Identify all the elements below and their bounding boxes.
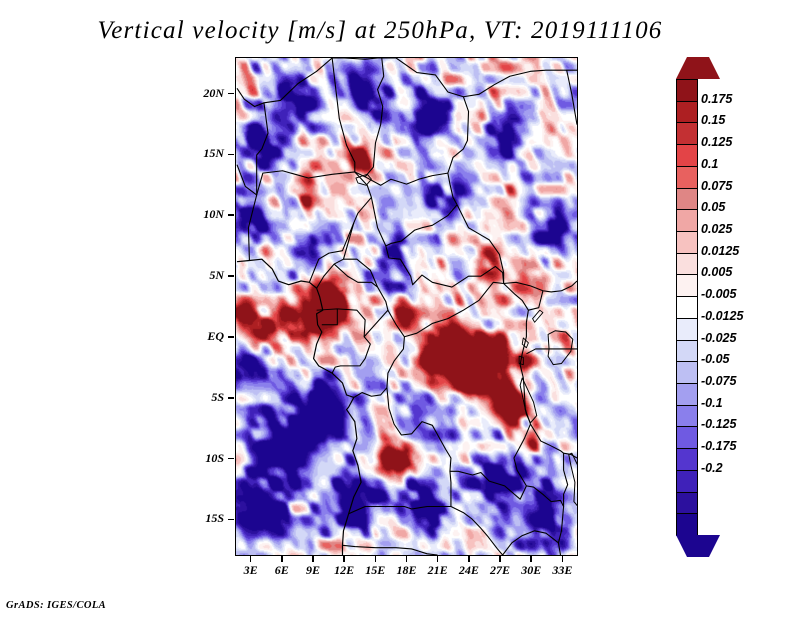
- colorbar-tick-label: -0.005: [701, 287, 736, 301]
- colorbar-segment: [676, 383, 698, 406]
- colorbar-tick-label: 0.075: [701, 179, 732, 193]
- y-axis-tick: [228, 275, 234, 277]
- colorbar-tick-label: -0.125: [701, 417, 736, 431]
- border-path: [332, 309, 370, 373]
- border-path: [237, 259, 361, 555]
- colorbar-tick-label: 0.005: [701, 265, 732, 279]
- colorbar-max-arrow: [676, 57, 720, 79]
- colorbar-tick-label: 0.025: [701, 222, 732, 236]
- border-path: [387, 283, 531, 499]
- y-axis-tick: [228, 154, 234, 156]
- colorbar-segment: [676, 361, 698, 384]
- colorbar-tick-label: 0.125: [701, 135, 732, 149]
- border-path: [342, 545, 437, 555]
- colorbar: [676, 57, 698, 557]
- y-axis-label: 10S: [164, 451, 224, 466]
- y-axis-label: 20N: [164, 86, 224, 101]
- footer-credit: GrADS: IGES/COLA: [6, 600, 106, 611]
- colorbar-segment: [676, 101, 698, 124]
- colorbar-segment: [676, 166, 698, 189]
- x-axis-tick: [562, 556, 564, 562]
- border-path: [530, 424, 577, 458]
- colorbar-segment: [676, 405, 698, 428]
- y-axis-label: 5S: [164, 390, 224, 405]
- colorbar-tick-label: 0.1: [701, 157, 718, 171]
- border-path: [528, 291, 543, 310]
- border-path: [526, 486, 563, 555]
- colorbar-tick-label: -0.0125: [701, 309, 743, 323]
- colorbar-tick-label: -0.2: [701, 461, 723, 475]
- colorbar-segment: [676, 296, 698, 319]
- x-axis-tick: [530, 556, 532, 562]
- y-axis-tick: [228, 93, 234, 95]
- colorbar-tick-label: -0.1: [701, 396, 723, 410]
- country-borders-overlay: [236, 58, 577, 555]
- border-path: [334, 264, 388, 310]
- x-axis-tick: [312, 556, 314, 562]
- border-path: [371, 197, 457, 245]
- border-path: [404, 282, 503, 336]
- x-axis-tick: [343, 556, 345, 562]
- border-path: [354, 310, 405, 397]
- border-path: [463, 70, 577, 97]
- border-path: [567, 70, 577, 124]
- border-path: [365, 173, 448, 185]
- x-axis-label: 33E: [542, 563, 582, 578]
- y-axis-label: 5N: [164, 268, 224, 283]
- colorbar-tick-label: 0.0125: [701, 244, 739, 258]
- border-path: [503, 531, 559, 555]
- colorbar-segment: [676, 253, 698, 276]
- border-path: [317, 223, 354, 288]
- border-path: [520, 378, 537, 423]
- y-axis-tick: [228, 214, 234, 216]
- x-axis-tick: [281, 556, 283, 562]
- border-path: [504, 281, 577, 292]
- colorbar-segment: [676, 492, 698, 515]
- colorbar-segment: [676, 448, 698, 471]
- border-path: [569, 453, 577, 506]
- y-axis-label: 15N: [164, 146, 224, 161]
- border-path: [317, 309, 338, 325]
- border-path: [451, 506, 503, 555]
- colorbar-tick-label: -0.05: [701, 352, 730, 366]
- colorbar-tick-label: 0.05: [701, 200, 725, 214]
- border-path: [257, 103, 268, 195]
- border-path: [332, 58, 355, 172]
- border-path: [382, 58, 469, 205]
- colorbar-segment: [676, 231, 698, 254]
- colorbar-segment: [676, 513, 698, 536]
- page-title: Vertical velocity [m/s] at 250hPa, VT: 2…: [0, 17, 760, 45]
- border-path: [548, 331, 573, 365]
- x-axis-tick: [250, 556, 252, 562]
- border-path: [237, 165, 257, 195]
- y-axis-label: EQ: [164, 329, 224, 344]
- colorbar-segment: [676, 122, 698, 145]
- y-axis-label: 15S: [164, 511, 224, 526]
- colorbar-tick-label: 0.175: [701, 92, 732, 106]
- border-path: [355, 58, 384, 177]
- map-plot-area: [235, 57, 578, 556]
- x-axis-tick: [437, 556, 439, 562]
- colorbar-min-arrow: [676, 535, 720, 557]
- colorbar-tick-label: -0.075: [701, 374, 736, 388]
- colorbar-segment: [676, 340, 698, 363]
- border-path: [564, 453, 568, 506]
- y-axis-label: 10N: [164, 207, 224, 222]
- colorbar-segment: [676, 144, 698, 167]
- colorbar-tick-label: 0.15: [701, 113, 725, 127]
- x-axis-tick: [468, 556, 470, 562]
- y-axis-tick: [228, 397, 234, 399]
- border-path: [533, 310, 543, 322]
- colorbar-segment: [676, 426, 698, 449]
- colorbar-tick-label: -0.025: [701, 331, 736, 345]
- border-path: [332, 58, 382, 59]
- border-path: [457, 205, 504, 284]
- border-path: [237, 58, 332, 107]
- colorbar-segment: [676, 79, 698, 102]
- colorbar-segment: [676, 209, 698, 232]
- y-axis-tick: [228, 336, 234, 338]
- y-axis-tick: [228, 458, 234, 460]
- border-path: [450, 471, 451, 506]
- colorbar-tick-label: -0.175: [701, 439, 736, 453]
- colorbar-segment: [676, 188, 698, 211]
- colorbar-segment: [676, 470, 698, 493]
- y-axis-tick: [228, 519, 234, 521]
- border-path: [386, 246, 504, 287]
- grads-plot-canvas: Vertical velocity [m/s] at 250hPa, VT: 2…: [0, 0, 800, 618]
- colorbar-segment: [676, 318, 698, 341]
- x-axis-tick: [499, 556, 501, 562]
- colorbar-segment: [676, 274, 698, 297]
- x-axis-tick: [375, 556, 377, 562]
- x-axis-tick: [406, 556, 408, 562]
- border-path: [349, 506, 451, 513]
